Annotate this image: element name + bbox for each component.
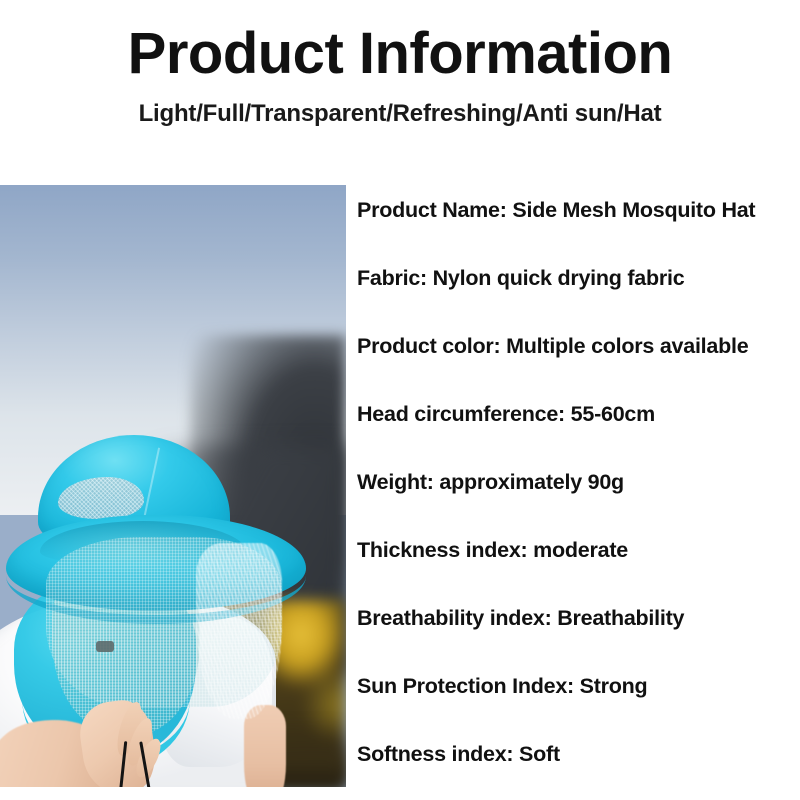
spec-row-breathability-index: Breathability index: Breathability	[357, 584, 800, 652]
spec-text: Softness index: Soft	[357, 742, 560, 767]
page-title: Product Information	[0, 22, 800, 87]
spec-text: Product Name: Side Mesh Mosquito Hat	[357, 198, 755, 223]
spec-row-weight: Weight: approximately 90g	[357, 448, 800, 516]
spec-row-fabric: Fabric: Nylon quick drying fabric	[357, 244, 800, 312]
spec-text: Breathability index: Breathability	[357, 606, 684, 631]
spec-row-head-circumference: Head circumference: 55-60cm	[357, 380, 800, 448]
spec-text: Fabric: Nylon quick drying fabric	[357, 266, 684, 291]
spec-text: Weight: approximately 90g	[357, 470, 624, 495]
spec-text: Product color: Multiple colors available	[357, 334, 748, 359]
spec-row-sun-protection-index: Sun Protection Index: Strong	[357, 652, 800, 720]
spec-row-product-color: Product color: Multiple colors available	[357, 312, 800, 380]
page-subtitle: Light/Full/Transparent/Refreshing/Anti s…	[0, 100, 800, 128]
product-information-page: Product Information Light/Full/Transpare…	[0, 0, 800, 800]
product-photo-scene	[0, 185, 346, 787]
spec-row-thickness-index: Thickness index: moderate	[357, 516, 800, 584]
spec-row-product-name: Product Name: Side Mesh Mosquito Hat	[357, 176, 800, 244]
spec-text: Sun Protection Index: Strong	[357, 674, 647, 699]
page-header: Product Information Light/Full/Transpare…	[0, 0, 800, 176]
spec-row-softness-index: Softness index: Soft	[357, 720, 800, 788]
drawstring-slider	[96, 641, 114, 652]
mosquito-net-sheen	[196, 543, 282, 719]
spec-text: Thickness index: moderate	[357, 538, 628, 563]
specification-list: Product Name: Side Mesh Mosquito Hat Fab…	[357, 176, 800, 788]
spec-text: Head circumference: 55-60cm	[357, 402, 655, 427]
product-photo	[0, 185, 346, 787]
